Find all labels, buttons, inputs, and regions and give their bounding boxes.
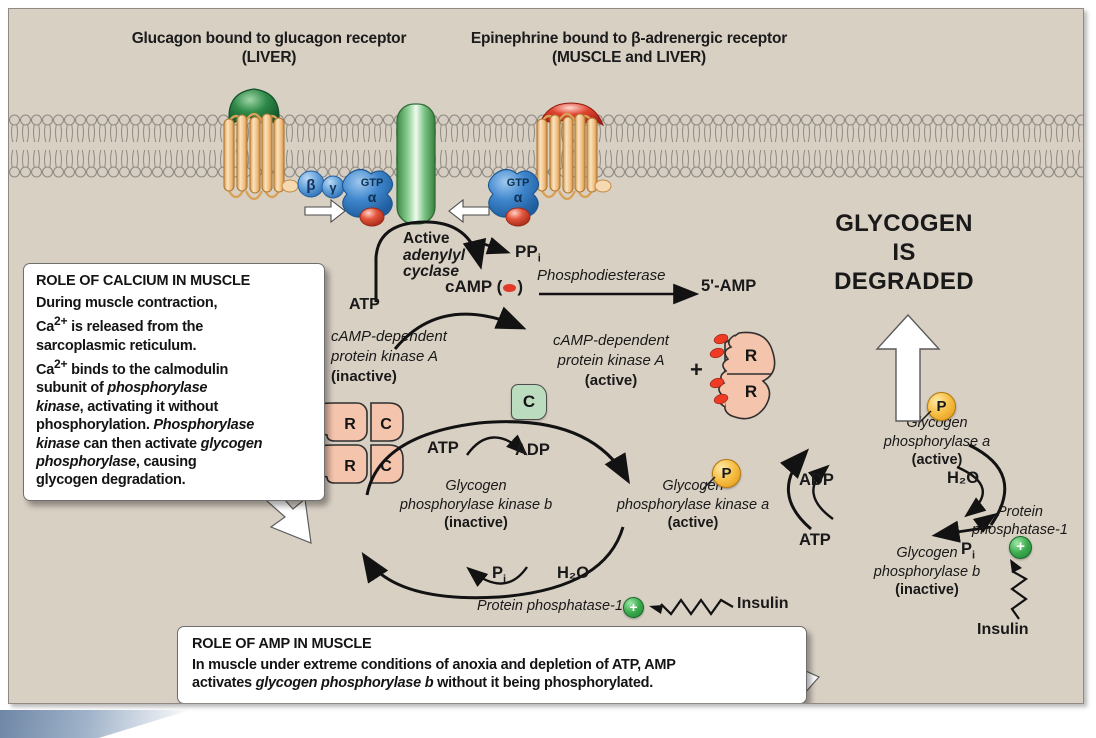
phosphorylase-cycle-adp: ADP: [799, 471, 834, 490]
glucagon-header-line1: Glucagon bound to glucagon receptor: [69, 29, 469, 48]
released-regulatory-dimer: R R: [709, 329, 799, 419]
negative-regulator-dot: [503, 284, 516, 292]
epinephrine-header-line2: (MUSCLE and LIVER): [429, 48, 829, 67]
amp-product-label: 5'-AMP: [701, 277, 756, 296]
pka-plus-sign: +: [690, 357, 703, 383]
svg-text:R: R: [745, 382, 757, 401]
page-corner-decoration: [0, 710, 190, 738]
ppi-subscript: i: [538, 252, 541, 264]
phosphatase-activation-plus-left: +: [623, 597, 644, 618]
svg-text:γ: γ: [329, 180, 337, 195]
protein-phosphatase-1-kinase-cycle: Protein phosphatase-1: [477, 598, 623, 614]
gp-b-line1: Glycogen: [837, 544, 1017, 563]
cyclase-label-line1: Active: [403, 231, 465, 248]
insulin-signal-right: [1005, 557, 1035, 627]
phosphorylase-cycle-water: H₂O: [947, 469, 979, 488]
phosphatase-activation-plus-right: +: [1009, 536, 1032, 559]
catalytic-subunit-c: C: [511, 384, 547, 420]
protein-phosphatase-1-right: Protein phosphatase-1: [972, 504, 1068, 539]
ppi-label: PPi: [515, 242, 541, 264]
kinase-cycle-pi: Pi: [492, 564, 506, 585]
svg-text:β: β: [306, 177, 315, 194]
pka-active-label: cAMP-dependent protein kinase A (active): [531, 331, 691, 391]
pka-active-line1: cAMP-dependent: [531, 331, 691, 351]
outcome-line2: IS: [799, 238, 1009, 267]
outcome-line3: DEGRADED: [799, 267, 1009, 296]
epinephrine-header-text: Epinephrine bound to β-adrenergic recept…: [471, 30, 787, 47]
amp-callout-heading: ROLE OF AMP IN MUSCLE: [192, 636, 792, 652]
activation-arrow-left: [305, 200, 345, 222]
figure-canvas: Glucagon bound to glucagon receptor (LIV…: [0, 0, 1096, 738]
camp-text: cAMP: [445, 277, 492, 296]
glucagon-header: Glucagon bound to glucagon receptor (LIV…: [69, 29, 469, 67]
cyclase-label-line2: adenylyl: [403, 248, 465, 265]
kinase-pi-text: P: [492, 564, 503, 582]
kinase-cycle-adp: ADP: [515, 441, 550, 460]
activation-arrow-right: [449, 200, 489, 222]
calcium-callout-body: During muscle contraction, Ca2+ is relea…: [36, 294, 312, 490]
glycogen-degraded-text: GLYCOGEN IS DEGRADED: [799, 209, 1009, 296]
insulin-signal-left: [645, 595, 737, 621]
camp-negative-marker: (: [497, 277, 503, 296]
epinephrine-header-line1: Epinephrine bound to β-adrenergic recept…: [429, 29, 829, 48]
insulin-label-right: Insulin: [977, 621, 1029, 639]
pka-active-line3: (active): [531, 371, 691, 391]
kinase-phosphate-tie: [699, 475, 729, 497]
svg-text:GTP: GTP: [361, 177, 384, 189]
svg-text:R: R: [745, 346, 757, 365]
svg-text:GTP: GTP: [507, 177, 530, 189]
callout-role-of-amp: ROLE OF AMP IN MUSCLE In muscle under ex…: [177, 626, 807, 704]
catalytic-subunit-label: C: [523, 392, 535, 411]
g-alpha-right: GTP α: [488, 170, 538, 227]
gp-a-line3: (active): [847, 451, 1027, 470]
kinase-cycle-water: H₂O: [557, 564, 589, 583]
glycogen-phosphorylase-b-label: Glycogen phosphorylase b (inactive): [837, 544, 1017, 600]
phosphorylase-cycle-atp: ATP: [799, 531, 831, 550]
glucagon-header-line2: (LIVER): [69, 48, 469, 67]
diagram-panel: Glucagon bound to glucagon receptor (LIV…: [8, 8, 1084, 704]
gp-b-line2: phosphorylase b: [837, 563, 1017, 582]
g-alpha-left: GTP α: [342, 170, 392, 227]
svg-text:α: α: [514, 189, 523, 205]
camp-label: cAMP (): [445, 277, 523, 297]
callout-role-of-calcium: ROLE OF CALCIUM IN MUSCLE During muscle …: [23, 263, 325, 501]
calcium-callout-heading: ROLE OF CALCIUM IN MUSCLE: [36, 273, 312, 289]
phosphodiesterase-label: Phosphodiesterase: [537, 267, 665, 284]
svg-text:α: α: [368, 189, 377, 205]
pka-active-line2: protein kinase A: [531, 351, 691, 371]
atp-cyclase-label: ATP: [349, 296, 380, 314]
plus-label-left: +: [629, 599, 637, 615]
ppi-text: PP: [515, 242, 538, 261]
glycogen-degraded-arrow: [869, 311, 959, 431]
epinephrine-header: Epinephrine bound to β-adrenergic recept…: [429, 29, 829, 67]
plus-label-right: +: [1016, 538, 1025, 555]
kinase-pi-subscript: i: [503, 573, 506, 585]
gp-b-line3: (inactive): [837, 581, 1017, 600]
kinase-cycle-atp: ATP: [427, 439, 459, 458]
adenylyl-cyclase-label: Active adenylyl cyclase: [403, 231, 465, 281]
outcome-line1: GLYCOGEN: [799, 209, 1009, 238]
pp1-right-line1: Protein: [972, 504, 1068, 522]
gp-a-line2: phosphorylase a: [847, 433, 1027, 452]
adenylyl-cyclase-body: [397, 104, 435, 224]
amp-callout-body: In muscle under extreme conditions of an…: [192, 656, 792, 693]
